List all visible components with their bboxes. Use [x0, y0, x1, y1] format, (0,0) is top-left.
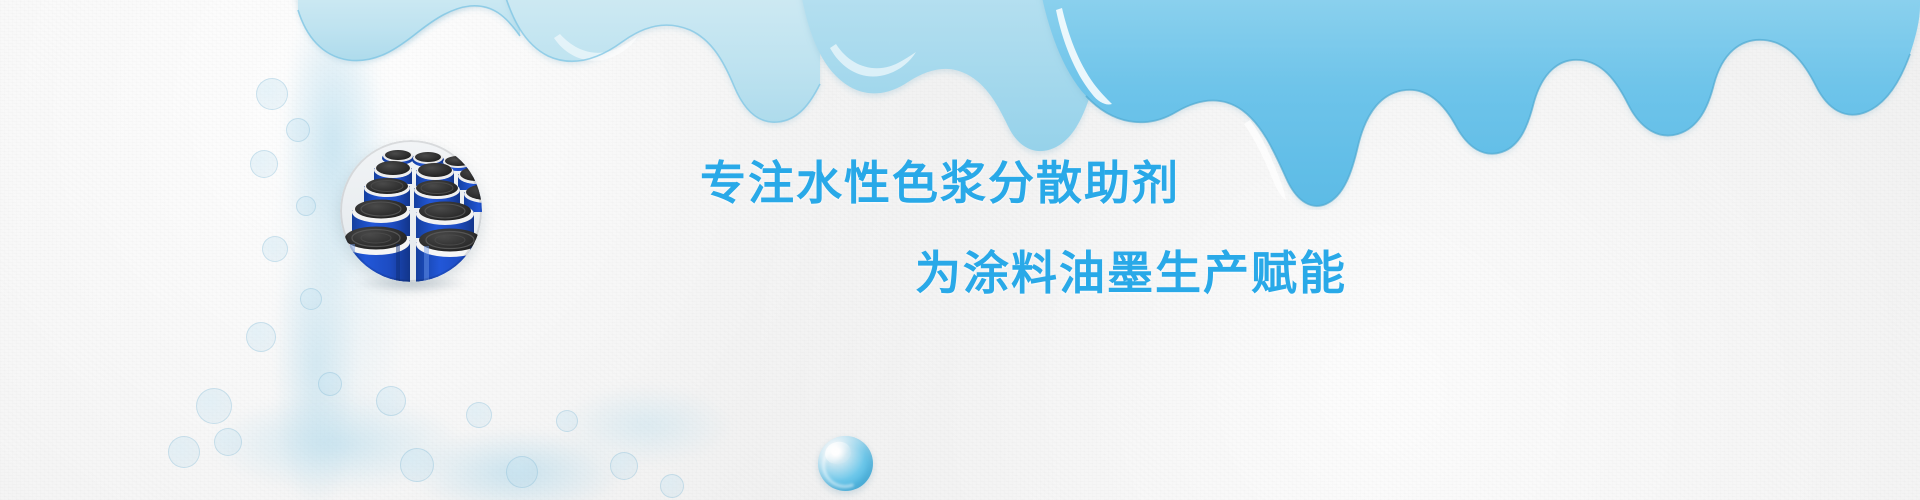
headline-block: 专注水性色浆分散助剂 为涂料油墨生产赋能 — [700, 160, 1400, 296]
headline-line-2: 为涂料油墨生产赋能 — [700, 250, 1400, 296]
product-photo-circle — [340, 140, 482, 282]
promotional-banner: 专注水性色浆分散助剂 为涂料油墨生产赋能 — [0, 0, 1920, 500]
headline-line-1: 专注水性色浆分散助剂 — [700, 160, 1400, 206]
